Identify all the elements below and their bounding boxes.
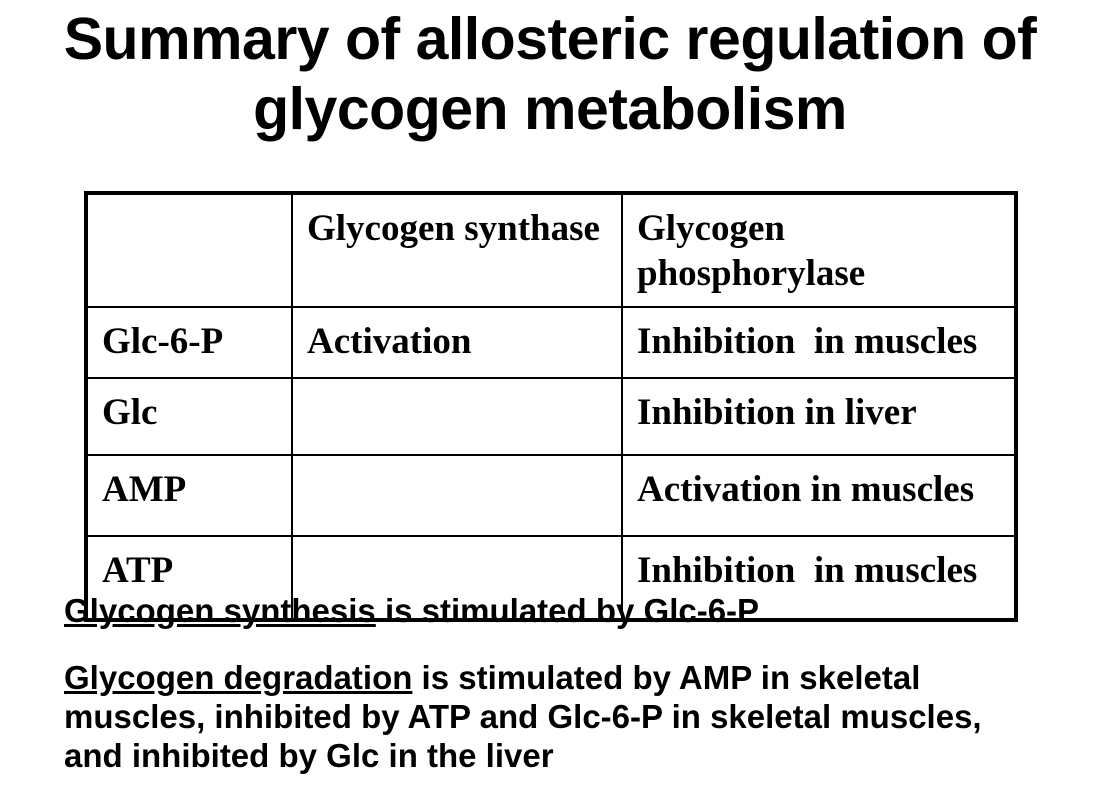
cell-glycogen-phosphorylase: Inhibition in muscles xyxy=(622,307,1016,378)
cell-glycogen-phosphorylase: Activation in muscles xyxy=(622,455,1016,536)
summary-note-synthesis: Glycogen synthesis is stimulated by Glc-… xyxy=(64,591,1064,630)
table-row: Glc-6-P Activation Inhibition in muscles xyxy=(86,307,1016,378)
page-title: Summary of allosteric regulation of glyc… xyxy=(0,4,1100,144)
table-row: Glc Inhibition in liver xyxy=(86,378,1016,455)
table-header-row: Glycogen synthase Glycogen phosphorylase xyxy=(86,193,1016,307)
cell-effector: Glc-6-P xyxy=(86,307,292,378)
table-header-cell-glycogen-phosphorylase: Glycogen phosphorylase xyxy=(622,193,1016,307)
cell-glycogen-synthase xyxy=(292,378,622,455)
slide-canvas: { "slide": { "title": "Summary of allost… xyxy=(0,0,1100,802)
summary-note-synthesis-body: is stimulated by Glc-6-P xyxy=(376,592,759,629)
summary-note-synthesis-lead: Glycogen synthesis xyxy=(64,592,376,629)
cell-effector: AMP xyxy=(86,455,292,536)
table-row: AMP Activation in muscles xyxy=(86,455,1016,536)
regulation-table-container: Glycogen synthase Glycogen phosphorylase… xyxy=(84,191,1014,622)
table-header-cell-effector xyxy=(86,193,292,307)
allosteric-regulation-table: Glycogen synthase Glycogen phosphorylase… xyxy=(84,191,1018,622)
cell-glycogen-phosphorylase: Inhibition in liver xyxy=(622,378,1016,455)
summary-note-degradation-lead: Glycogen degradation xyxy=(64,659,412,696)
cell-effector: Glc xyxy=(86,378,292,455)
cell-glycogen-synthase: Activation xyxy=(292,307,622,378)
table-header-cell-glycogen-synthase: Glycogen synthase xyxy=(292,193,622,307)
summary-note-degradation: Glycogen degradation is stimulated by AM… xyxy=(64,658,1029,775)
cell-glycogen-synthase xyxy=(292,455,622,536)
